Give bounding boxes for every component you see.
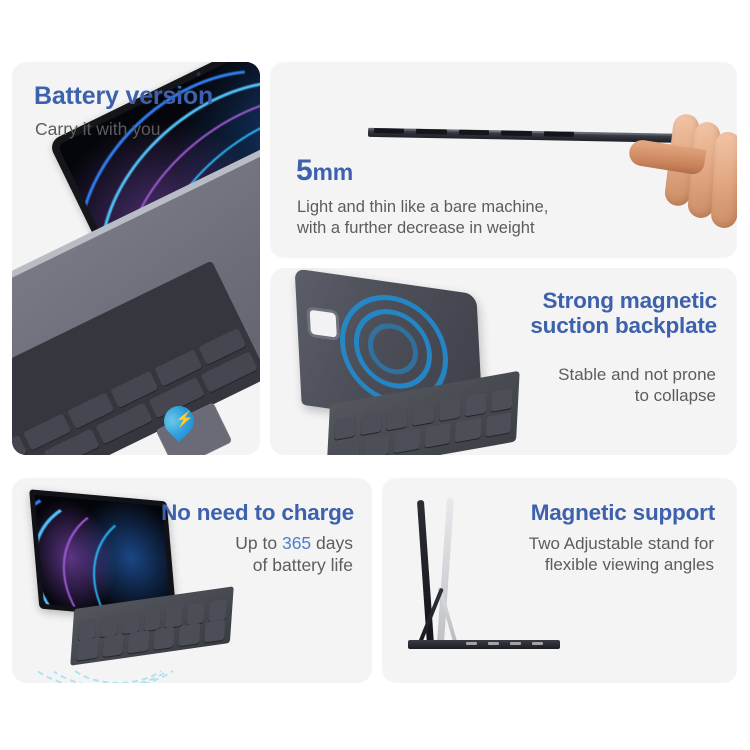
no-charge-suffix: days — [311, 533, 353, 553]
magnetic-backplate-artwork — [270, 268, 530, 455]
magnetic-support-subtitle: Two Adjustable stand for flexible viewin… — [529, 533, 714, 576]
product-feature-infographic: ⚡ Battery version Carry it with you 5mm … — [0, 0, 750, 750]
battery-days-value: 365 — [282, 533, 311, 553]
magnetic-backplate-title: Strong magnetic suction backplate — [530, 288, 717, 338]
feature-card-magnetic-support[interactable]: Magnetic support Two Adjustable stand fo… — [382, 478, 737, 683]
no-charge-prefix: Up to — [235, 533, 282, 553]
no-charge-subtitle: Up to 365 daysof battery life — [235, 533, 353, 577]
magnetic-support-title: Magnetic support — [531, 500, 715, 525]
bolt-glyph: ⚡ — [175, 412, 184, 427]
feature-card-thinness[interactable]: 5mm Light and thin like a bare machine, … — [270, 62, 737, 258]
feature-card-battery-version[interactable]: ⚡ Battery version Carry it with you — [12, 62, 260, 455]
feature-card-magnetic-backplate[interactable]: Strong magnetic suction backplate Stable… — [270, 268, 737, 455]
thinness-value: 5mm — [296, 154, 353, 188]
camera-cutout-icon — [306, 306, 340, 341]
thinness-unit: mm — [313, 159, 354, 185]
feature-card-no-charge[interactable]: No need to charge Up to 365 daysof batte… — [12, 478, 372, 683]
charging-pin-icon: ⚡ — [164, 406, 194, 444]
battery-version-title: Battery version — [34, 82, 213, 110]
battery-version-subtitle: Carry it with you — [35, 119, 160, 141]
thinness-subtitle: Light and thin like a bare machine, with… — [297, 197, 548, 238]
keyboard-base-flat — [408, 640, 560, 649]
magnetic-backplate-subtitle: Stable and not prone to collapse — [558, 364, 716, 407]
no-charge-title: No need to charge — [161, 500, 354, 525]
hand-holding-keyboard — [623, 110, 737, 250]
thinness-number: 5 — [296, 154, 313, 187]
no-charge-line2: of battery life — [253, 555, 353, 575]
